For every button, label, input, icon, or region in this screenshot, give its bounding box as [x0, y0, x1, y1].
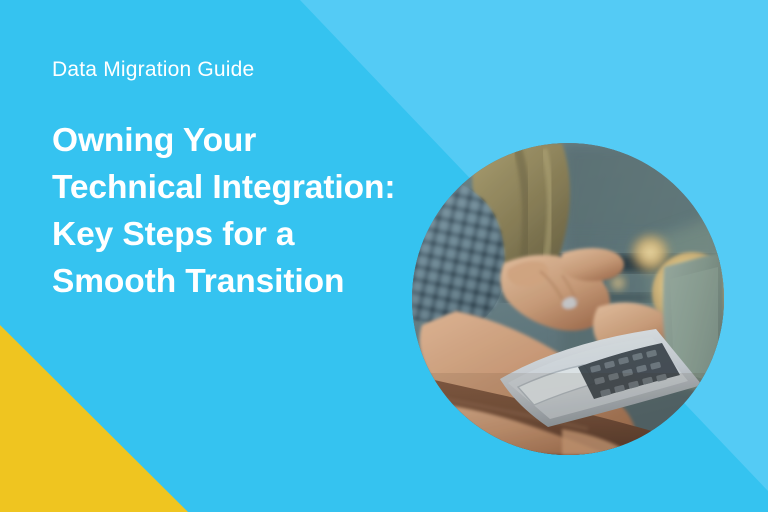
headline-line-3: Key Steps for a	[52, 211, 412, 258]
hero-photo-illustration	[412, 143, 724, 455]
headline-line-1: Owning Your	[52, 117, 412, 164]
hero-photo-circle	[412, 143, 724, 455]
headline-line-4: Smooth Transition	[52, 258, 412, 305]
headline-line-2: Technical Integration:	[52, 164, 412, 211]
eyebrow-label: Data Migration Guide	[52, 56, 412, 84]
blog-header-card: Data Migration Guide Owning Your Technic…	[0, 0, 768, 512]
text-block: Data Migration Guide Owning Your Technic…	[52, 56, 412, 305]
page-title: Owning Your Technical Integration: Key S…	[52, 117, 412, 305]
